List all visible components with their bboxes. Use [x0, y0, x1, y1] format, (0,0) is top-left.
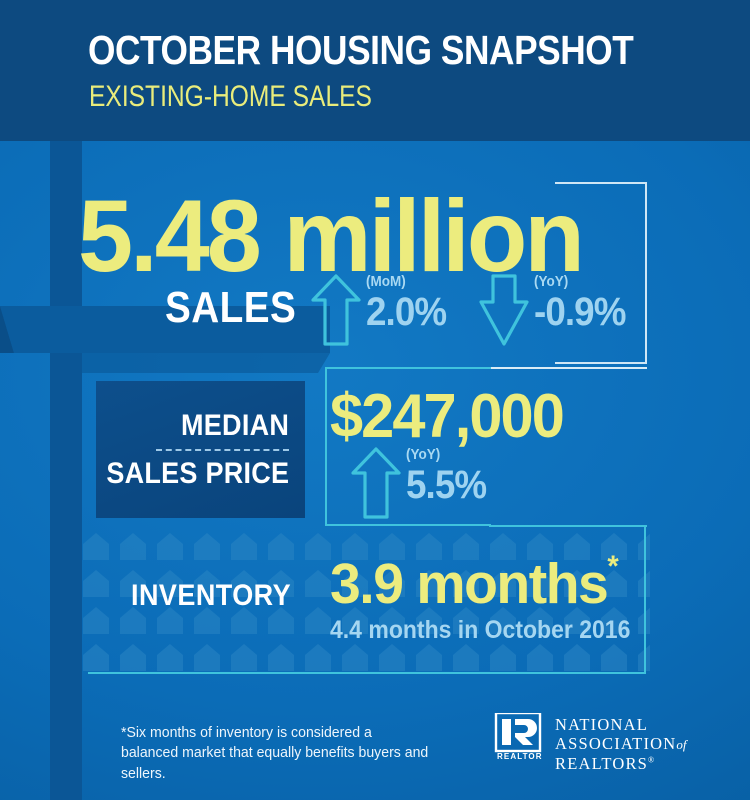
nar-line-3-text: REALTORS	[555, 754, 648, 773]
sales-label: SALES	[165, 286, 296, 330]
registered-mark: ®	[648, 755, 655, 764]
sales-mom-value: 2.0%	[366, 292, 446, 332]
nar-line-3: REALTORS®	[555, 754, 687, 773]
nar-line-1: NATIONAL	[555, 715, 687, 734]
nar-line-2-text: ASSOCIATION	[555, 734, 676, 753]
page-subtitle: EXISTING-HOME SALES	[89, 82, 372, 112]
inventory-label: INVENTORY	[131, 581, 291, 611]
nar-logo: REALTOR NATIONAL ASSOCIATIONof REALTORS®	[494, 713, 687, 773]
nar-line-2-suffix: of	[676, 737, 686, 752]
page-title: OCTOBER HOUSING SNAPSHOT	[88, 30, 633, 71]
arrow-up-icon	[310, 272, 362, 348]
realtor-wordmark: REALTOR	[497, 753, 543, 761]
header-banner: OCTOBER HOUSING SNAPSHOT EXISTING-HOME S…	[0, 0, 750, 141]
sales-yoy-value: -0.9%	[534, 292, 626, 332]
arrow-up-icon	[350, 445, 402, 521]
median-yoy-caption: (YoY)	[406, 447, 484, 462]
inventory-value-group: 3.9 months*	[330, 556, 617, 613]
inventory-value: 3.9 months	[330, 552, 607, 616]
median-label-divider	[156, 449, 289, 451]
footnote-text: *Six months of inventory is considered a…	[121, 723, 431, 784]
sales-mom-caption: (MoM)	[366, 274, 444, 289]
median-price-label-group: MEDIAN SALES PRICE	[96, 381, 305, 518]
sales-yoy-text: (YoY) -0.9%	[534, 274, 634, 332]
inventory-previous-year: 4.4 months in October 2016	[330, 618, 630, 643]
median-label-line2: SALES PRICE	[106, 458, 289, 490]
realtor-r-mark: REALTOR	[494, 713, 544, 770]
inventory-footnote-marker: *	[607, 550, 617, 583]
sales-mom-text: (MoM) 2.0%	[366, 274, 453, 332]
sales-yoy-caption: (YoY)	[534, 274, 624, 289]
median-price-value: $247,000	[330, 386, 563, 448]
arrow-down-icon	[478, 272, 530, 348]
infographic-canvas: OCTOBER HOUSING SNAPSHOT EXISTING-HOME S…	[0, 0, 750, 800]
nar-logo-wordmark: NATIONAL ASSOCIATIONof REALTORS®	[555, 713, 687, 773]
nar-line-2: ASSOCIATIONof	[555, 734, 687, 753]
median-yoy-text: (YoY) 5.5%	[406, 447, 493, 505]
median-yoy-value: 5.5%	[406, 465, 486, 505]
median-label-line1: MEDIAN	[181, 410, 289, 442]
